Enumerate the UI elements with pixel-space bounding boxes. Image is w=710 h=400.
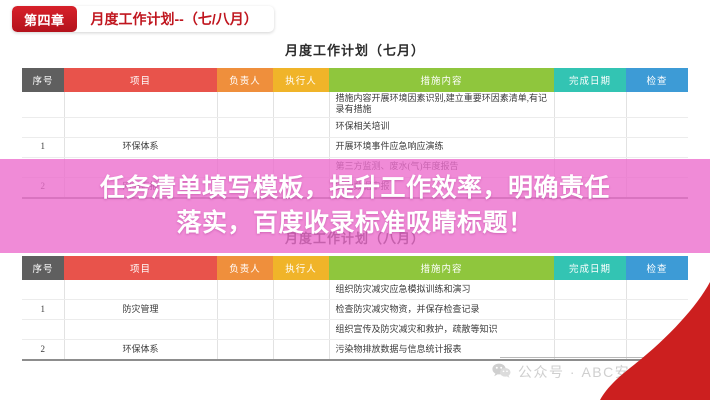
promo-banner-line1: 任务清单填写模板，提升工作效率，明确责任 [100,174,610,202]
column-header-measure: 措施内容 [329,256,554,280]
chapter-badge: 第四章 月度工作计划--（七/八月） [12,6,274,32]
column-header-index: 序号 [22,256,64,280]
column-header-check: 检查 [626,256,688,280]
july-table-heading: 月度工作计划（七月） [0,40,710,59]
slide-canvas: 第四章 月度工作计划--（七/八月） 月度工作计划（七月） 序号 项目 负责人 … [0,0,710,400]
table-cell-item: 防灾管理 [64,300,217,320]
chapter-number: 第四章 [12,6,77,32]
table-cell-executor [273,117,329,137]
table-cell-index: 1 [22,137,64,157]
footer-brand: 公众号 · ABC安全 [492,362,646,382]
table-cell-date [554,92,626,117]
table-row: 环保相关培训 [22,117,688,137]
table-cell-measure: 检查防灾减灾物资，并保存检查记录 [329,300,554,320]
table-cell-measure: 措施内容开展环境因素识别,建立重要环因素清单,有记录有措施 [329,92,554,117]
table-cell-measure: 组织防灾减灾应急模拟训练和演习 [329,280,554,300]
table-cell-item: 环保体系 [64,340,217,361]
table-cell-index [22,320,64,340]
column-header-date: 完成日期 [554,256,626,280]
table-cell-measure: 环保相关培训 [329,117,554,137]
august-table-body: 组织防灾减灾应急模拟训练和演习1防灾管理检查防灾减灾物资，并保存检查记录组织宣传… [22,280,688,360]
column-header-item: 项目 [64,256,217,280]
table-row: 组织宣传及防灾减灾和救护，疏散等知识 [22,320,688,340]
table-cell-check [626,280,688,300]
table-cell-owner [217,117,273,137]
table-cell-date [554,137,626,157]
promo-banner: 任务清单填写模板，提升工作效率，明确责任 落实，百度收录标准吸睛标题！ [0,159,710,253]
table-header-row: 序号 项目 负责人 执行人 措施内容 完成日期 检查 [22,256,688,280]
promo-banner-text: 任务清单填写模板，提升工作效率，明确责任 落实，百度收录标准吸睛标题！ [35,171,675,242]
table-cell-item [64,280,217,300]
column-header-owner: 负责人 [217,68,273,92]
table-cell-index [22,92,64,117]
table-cell-index: 1 [22,300,64,320]
table-cell-executor [273,92,329,117]
table-cell-executor [273,300,329,320]
table-cell-check [626,320,688,340]
column-header-owner: 负责人 [217,256,273,280]
table-cell-executor [273,280,329,300]
promo-banner-line2: 落实，百度收录标准吸睛标题！ [176,209,533,237]
table-cell-measure: 组织宣传及防灾减灾和救护，疏散等知识 [329,320,554,340]
table-cell-executor [273,340,329,361]
table-cell-owner [217,280,273,300]
footer-brand-label: 公众号 · ABC安全 [518,362,646,382]
table-row: 1环保体系开展环境事件应急响应演练 [22,137,688,157]
table-cell-executor [273,320,329,340]
table-cell-item [64,92,217,117]
column-header-date: 完成日期 [554,68,626,92]
column-header-index: 序号 [22,68,64,92]
column-header-executor: 执行人 [273,68,329,92]
table-cell-owner [217,137,273,157]
table-cell-date [554,320,626,340]
august-plan-table: 序号 项目 负责人 执行人 措施内容 完成日期 检查 组织防灾减灾应急模拟训练和… [22,256,688,361]
table-row: 措施内容开展环境因素识别,建立重要环因素清单,有记录有措施 [22,92,688,117]
table-cell-index: 2 [22,340,64,361]
table-row: 1防灾管理检查防灾减灾物资，并保存检查记录 [22,300,688,320]
table-cell-item [64,320,217,340]
table-cell-date [554,300,626,320]
table-cell-check [626,117,688,137]
footer-divider [500,357,678,358]
table-cell-check [626,92,688,117]
table-cell-owner [217,300,273,320]
table-cell-check [626,137,688,157]
column-header-executor: 执行人 [273,256,329,280]
table-cell-item [64,117,217,137]
table-cell-date [554,117,626,137]
chapter-title: 月度工作计划--（七/八月） [77,6,274,32]
table-cell-index [22,280,64,300]
table-row: 组织防灾减灾应急模拟训练和演习 [22,280,688,300]
table-cell-check [626,300,688,320]
table-cell-owner [217,92,273,117]
table-header-row: 序号 项目 负责人 执行人 措施内容 完成日期 检查 [22,68,688,92]
table-cell-measure: 开展环境事件应急响应演练 [329,137,554,157]
wechat-icon [492,363,511,381]
column-header-measure: 措施内容 [329,68,554,92]
table-cell-date [554,280,626,300]
table-cell-index [22,117,64,137]
column-header-item: 项目 [64,68,217,92]
table-cell-item: 环保体系 [64,137,217,157]
table-cell-owner [217,320,273,340]
table-cell-owner [217,340,273,361]
table-cell-executor [273,137,329,157]
column-header-check: 检查 [626,68,688,92]
